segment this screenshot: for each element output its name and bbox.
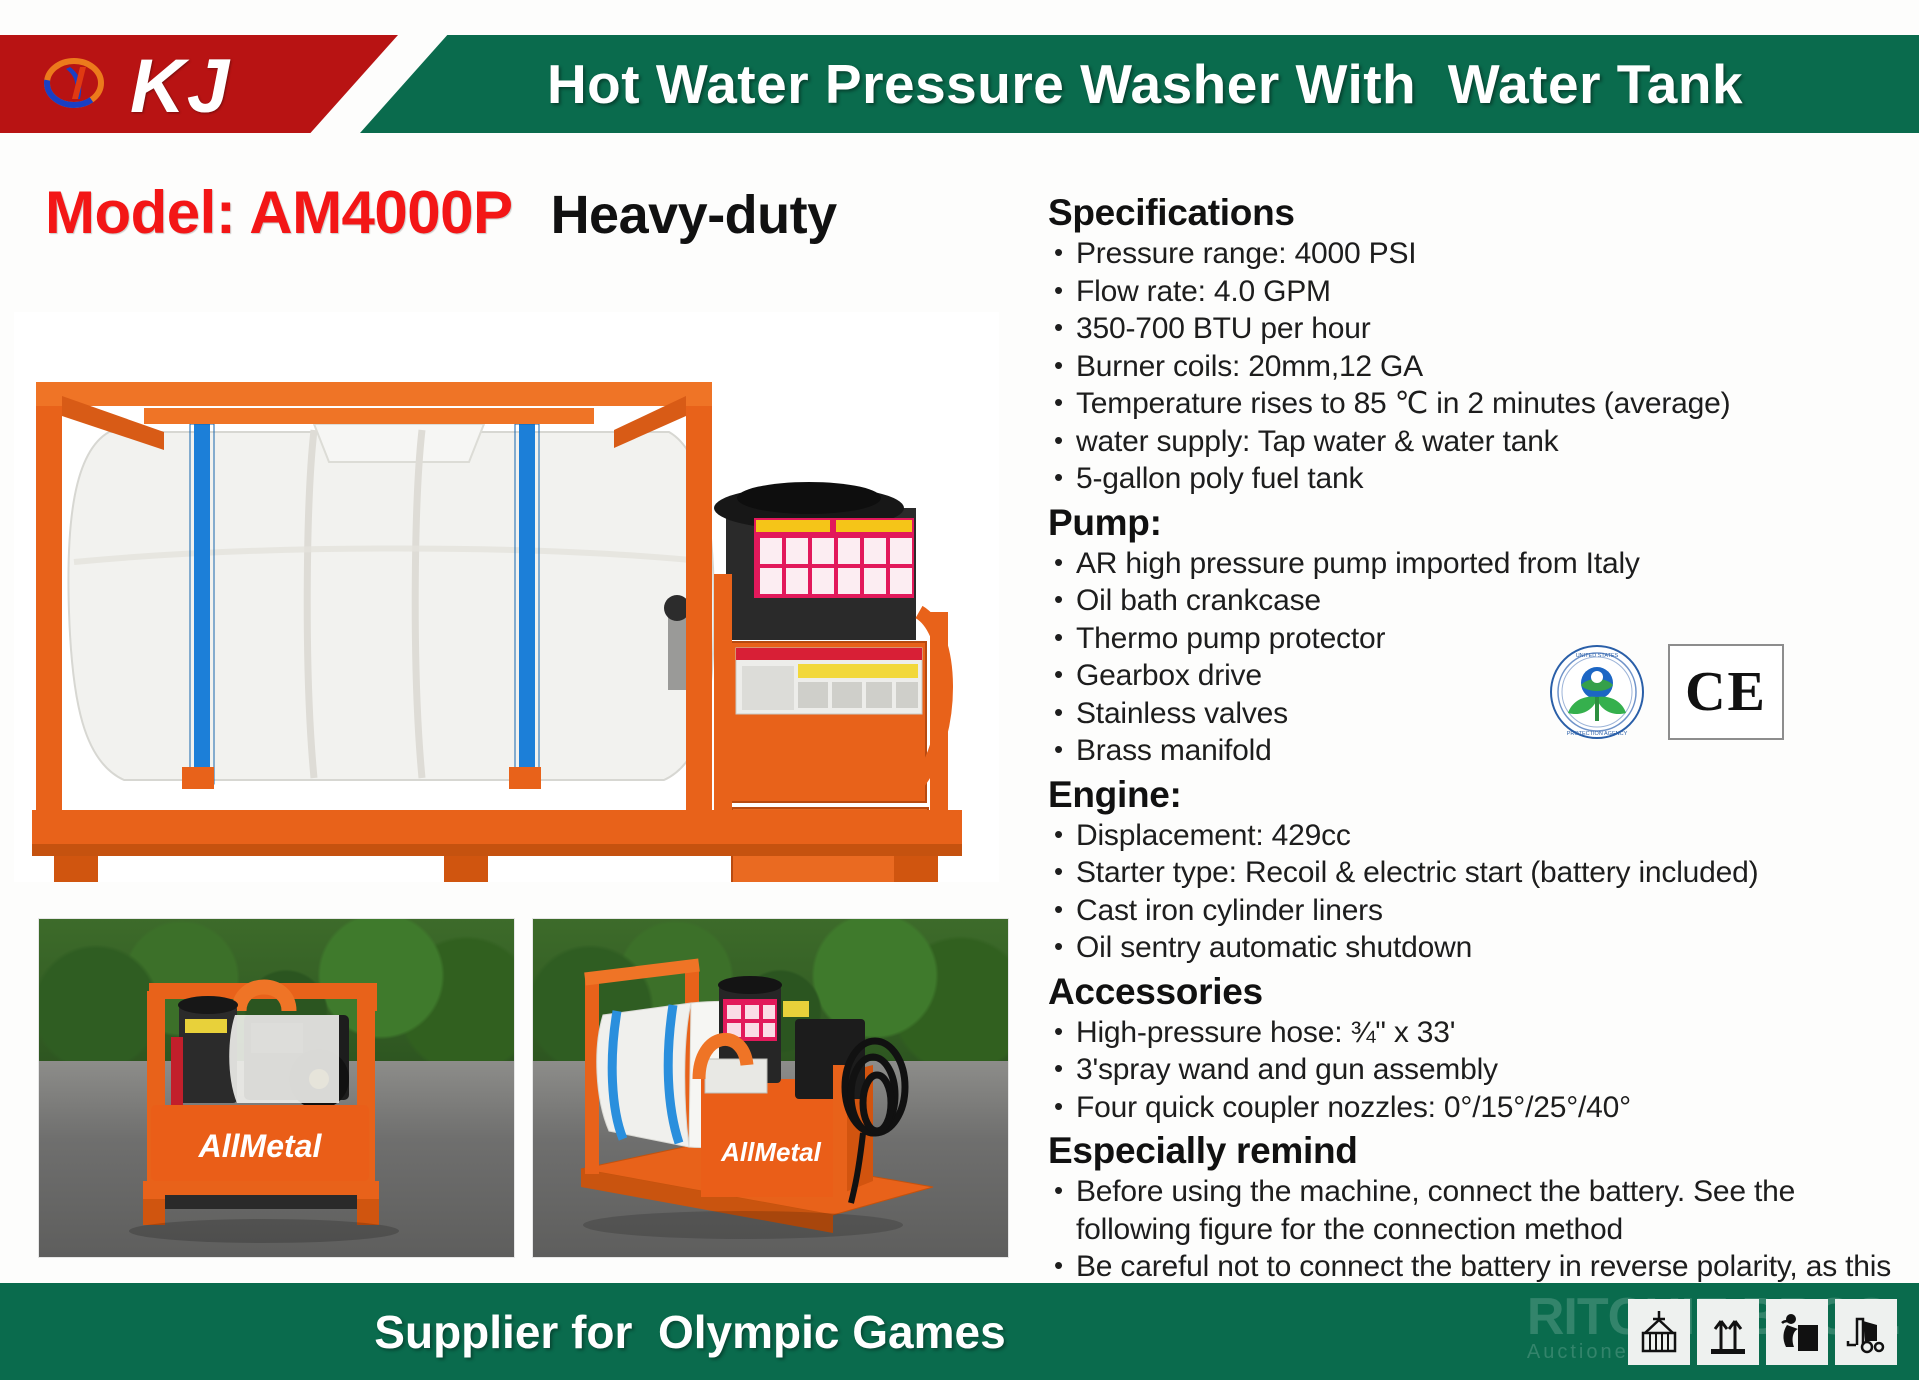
list-item: Displacement: 429cc xyxy=(1048,817,1908,855)
crane-lift-point-icon xyxy=(1628,1299,1690,1365)
list-item: Before using the machine, connect the ba… xyxy=(1048,1173,1908,1248)
section-heading-accessories: Accessories xyxy=(1048,971,1908,1013)
product-photo-angled: AllMetal xyxy=(532,918,1009,1258)
model-number: Model: AM4000P xyxy=(45,178,513,247)
list-item: AR high pressure pump imported from Ital… xyxy=(1048,545,1908,583)
brand-wordmark: KJ xyxy=(130,41,231,133)
brand-decal-text: AllMetal xyxy=(198,1128,323,1164)
list-item: Starter type: Recoil & electric start (b… xyxy=(1048,854,1908,892)
list-item: Oil bath crankcase xyxy=(1048,582,1908,620)
list-item: 5-gallon poly fuel tank xyxy=(1048,460,1908,498)
list-item: High-pressure hose: ¾" x 33' xyxy=(1048,1014,1908,1052)
page-header: KJ Hot Water Pressure Washer With Water … xyxy=(0,35,1919,133)
forklift-icon xyxy=(1835,1299,1897,1365)
svg-text:PROTECTION AGENCY: PROTECTION AGENCY xyxy=(1567,731,1628,737)
list-item: Pressure range: 4000 PSI xyxy=(1048,235,1908,273)
spec-sheet-page: KJ Hot Water Pressure Washer With Water … xyxy=(0,0,1919,1380)
this-side-up-icon xyxy=(1697,1299,1759,1365)
section-heading-especially-remind: Especially remind xyxy=(1048,1130,1908,1172)
brand-decal-text: AllMetal xyxy=(720,1137,821,1167)
list-item: water supply: Tap water & water tank xyxy=(1048,423,1908,461)
ce-mark-icon: CE xyxy=(1668,644,1784,740)
section-list-engine: Displacement: 429cc Starter type: Recoil… xyxy=(1048,817,1908,967)
page-footer: Supplier for Olympic Games RITCHIE BROS.… xyxy=(0,1283,1919,1380)
ce-mark-label: CE xyxy=(1685,660,1767,724)
product-photo-main xyxy=(14,312,999,882)
list-item: Four quick coupler nozzles: 0°/15°/25°/4… xyxy=(1048,1089,1908,1127)
model-line: Model: AM4000P Heavy-duty xyxy=(45,178,837,247)
list-item: Oil sentry automatic shutdown xyxy=(1048,929,1908,967)
section-heading-specifications: Specifications xyxy=(1048,192,1908,234)
list-item: 3'spray wand and gun assembly xyxy=(1048,1051,1908,1089)
footer-tagline: Supplier for Olympic Games xyxy=(0,1283,1380,1380)
duty-class: Heavy-duty xyxy=(551,184,837,246)
list-item: Cast iron cylinder liners xyxy=(1048,892,1908,930)
section-heading-engine: Engine: xyxy=(1048,774,1908,816)
section-list-accessories: High-pressure hose: ¾" x 33' 3'spray wan… xyxy=(1048,1014,1908,1127)
certification-badges: UNITED STATES PROTECTION AGENCY CE xyxy=(1548,638,1798,746)
shipping-pictograms xyxy=(1628,1299,1897,1365)
epa-seal-icon: UNITED STATES PROTECTION AGENCY xyxy=(1548,643,1646,741)
specifications-column: Specifications Pressure range: 4000 PSI … xyxy=(1048,192,1908,1327)
page-title: Hot Water Pressure Washer With Water Tan… xyxy=(400,35,1890,133)
list-item: Burner coils: 20mm,12 GA xyxy=(1048,348,1908,386)
product-photo-front: AllMetal xyxy=(38,918,515,1258)
svg-text:UNITED STATES: UNITED STATES xyxy=(1576,653,1619,659)
do-not-climb-icon xyxy=(1766,1299,1828,1365)
kj-swoosh-emblem-icon xyxy=(44,53,104,113)
section-list-specifications: Pressure range: 4000 PSI Flow rate: 4.0 … xyxy=(1048,235,1908,498)
list-item: Temperature rises to 85 ℃ in 2 minutes (… xyxy=(1048,385,1908,423)
list-item: 350-700 BTU per hour xyxy=(1048,310,1908,348)
list-item: Flow rate: 4.0 GPM xyxy=(1048,273,1908,311)
section-heading-pump: Pump: xyxy=(1048,502,1908,544)
